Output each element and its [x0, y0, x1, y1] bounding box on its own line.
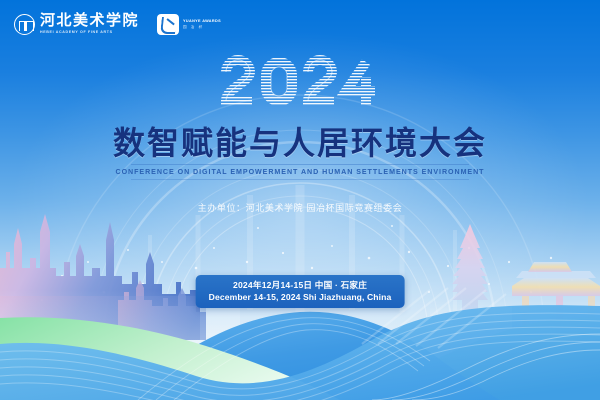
- conference-poster: 河北美术学院 HEBEI ACADEMY OF FINE ARTS YUANYE…: [0, 0, 600, 400]
- hill-blue: [120, 312, 500, 400]
- page-title: 数智赋能与人居环境大会: [0, 125, 600, 161]
- university-logo-text: 河北美术学院 HEBEI ACADEMY OF FINE ARTS: [40, 13, 139, 35]
- award-name-en: YUANYE AWARDS: [183, 19, 221, 24]
- university-seal-icon: [14, 14, 35, 35]
- date-text-cn: 2024年12月14-15日 中国 · 石家庄: [209, 279, 392, 291]
- award-name-cn: 园 冶 杯: [183, 25, 221, 29]
- hill-green-left: [0, 317, 340, 400]
- award-logo[interactable]: YUANYE AWARDS 园 冶 杯: [157, 14, 221, 35]
- logo-bar: 河北美术学院 HEBEI ACADEMY OF FINE ARTS YUANYE…: [14, 13, 221, 35]
- university-logo[interactable]: 河北美术学院 HEBEI ACADEMY OF FINE ARTS: [14, 13, 139, 35]
- chinese-pagoda-silhouette: [443, 224, 497, 322]
- university-name-cn: 河北美术学院: [40, 13, 139, 28]
- hill-green-right: [360, 330, 600, 400]
- title-rule-bottom: [131, 179, 469, 180]
- chinese-paifang-gate-silhouette: [512, 262, 600, 332]
- date-badge: 2024年12月14-15日 中国 · 石家庄 December 14-15, …: [196, 275, 405, 308]
- university-name-en: HEBEI ACADEMY OF FINE ARTS: [40, 29, 139, 35]
- title-rule-top: [131, 164, 469, 165]
- date-text-en: December 14-15, 2024 Shi Jiazhuang, Chin…: [209, 291, 392, 303]
- award-logo-text: YUANYE AWARDS 园 冶 杯: [183, 19, 221, 29]
- year-2024-graphic: [220, 55, 380, 113]
- european-castle-silhouette: [0, 214, 206, 342]
- foreground-wave: [0, 305, 600, 400]
- page-subtitle-en: CONFERENCE ON DIGITAL EMPOWERMENT AND HU…: [0, 167, 600, 177]
- year-display: 2024: [0, 55, 600, 115]
- host-line: 主办单位：河北美术学院 园冶杯国际竞赛组委会: [0, 202, 600, 215]
- yuanye-award-mark-icon: [157, 14, 179, 35]
- hill-teal: [350, 318, 600, 400]
